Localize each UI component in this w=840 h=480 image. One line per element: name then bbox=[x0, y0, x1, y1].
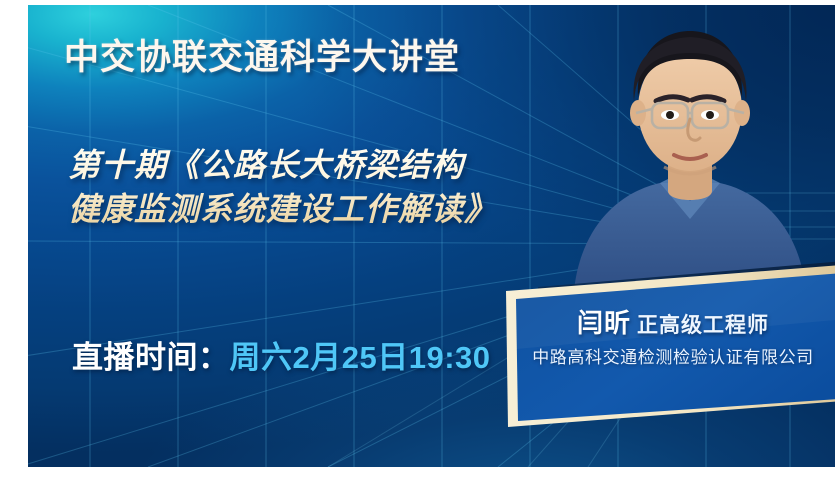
speaker-company: 中路高科交通检测检验认证有限公司 bbox=[498, 343, 835, 368]
speaker-role: 正高级工程师 bbox=[637, 314, 769, 337]
poster-artwork-stage: 中交协联交通科学大讲堂 第十期《公路长大桥梁结构 健康监测系统建设工作解读》 直… bbox=[28, 5, 835, 467]
live-time-value: 周六2月25日19:30 bbox=[230, 340, 491, 375]
live-time-line: 直播时间：周六2月25日19:30 bbox=[72, 332, 491, 377]
webinar-poster: 中交协联交通科学大讲堂 第十期《公路长大桥梁结构 健康监测系统建设工作解读》 直… bbox=[0, 0, 840, 480]
live-time-label: 直播时间： bbox=[72, 340, 230, 375]
episode-subtitle: 第十期《公路长大桥梁结构 健康监测系统建设工作解读》 bbox=[68, 143, 588, 231]
speaker-info-panel: 闫昕正高级工程师 中路高科交通检测检验认证有限公司 bbox=[498, 257, 835, 443]
page-title: 中交协联交通科学大讲堂 bbox=[64, 29, 460, 80]
speaker-portrait-photo bbox=[564, 5, 816, 290]
speaker-name-row: 闫昕正高级工程师 bbox=[498, 303, 835, 340]
speaker-name: 闫昕 bbox=[577, 308, 631, 338]
